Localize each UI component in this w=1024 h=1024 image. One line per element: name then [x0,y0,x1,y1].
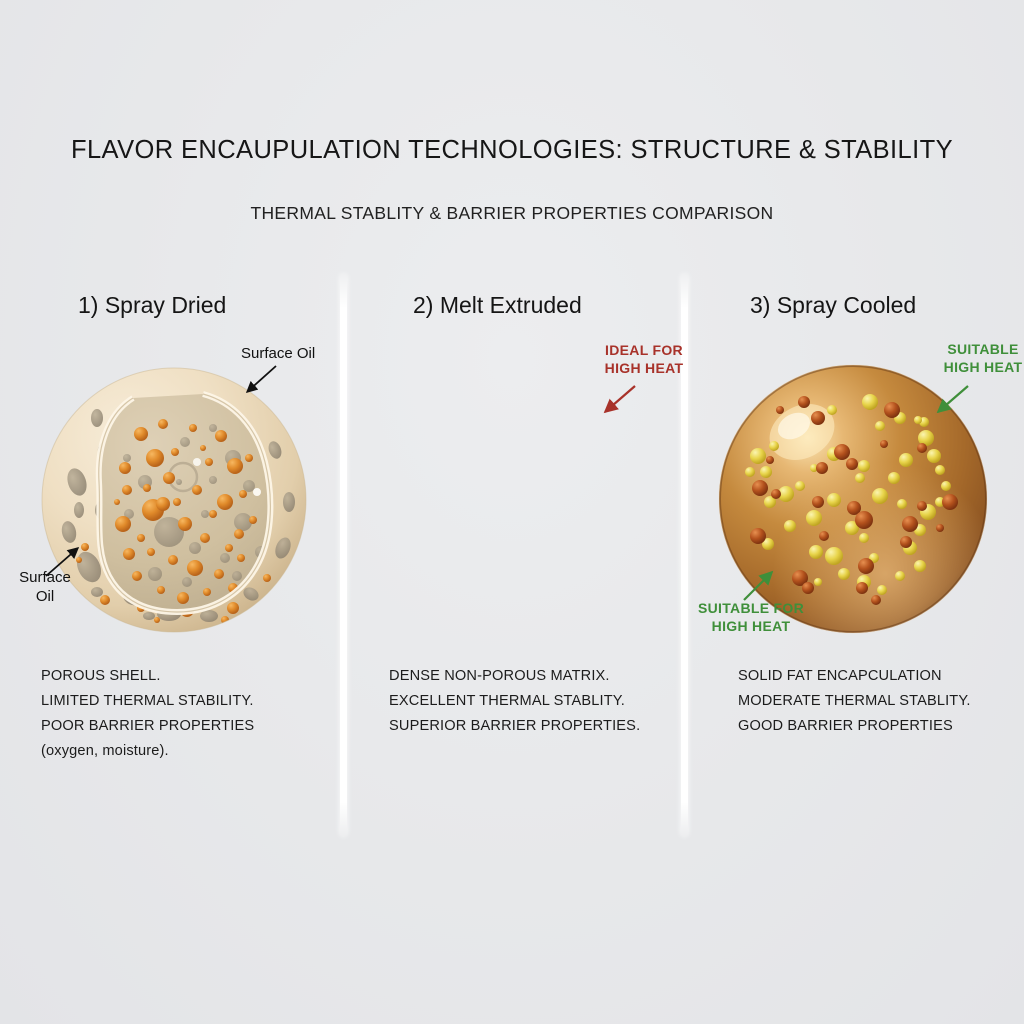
annotation-surface-oil-top: Surface Oil [241,344,315,363]
annotation-arrow-ideal-for-high-heat [595,382,643,422]
caption-melt-extruded: DENSE NON-POROUS MATRIX. EXCELLENT THERM… [389,664,640,739]
panel-title-spray-dried: 1) Spray Dried [78,292,226,319]
annotation-arrow-suitable-high-heat-bottom [740,566,784,606]
annotation-arrow-surface-oil-top [238,364,282,400]
panel-spray-dried: 1) Spray Dried [0,0,341,1024]
diagram-canvas: FLAVOR ENCAUPULATION TECHNOLOGIES: STRUC… [0,0,1024,1024]
annotation-arrow-surface-oil-bottom [42,542,90,580]
caption-spray-cooled: SOLID FAT ENCAPCULATION MODERATE THERMAL… [738,664,971,739]
panel-title-spray-cooled: 3) Spray Cooled [750,292,916,319]
caption-spray-dried: POROUS SHELL. LIMITED THERMAL STABILITY.… [41,664,254,764]
annotation-suitable-high-heat-top: SUITABLE HIGH HEAT [935,341,1024,376]
panel-melt-extruded: 2) Melt Extruded [341,0,682,1024]
panel-title-melt-extruded: 2) Melt Extruded [413,292,582,319]
annotation-arrow-suitable-high-heat-top [928,382,974,422]
panel-spray-cooled: 3) Spray Cooled [682,0,1024,1024]
